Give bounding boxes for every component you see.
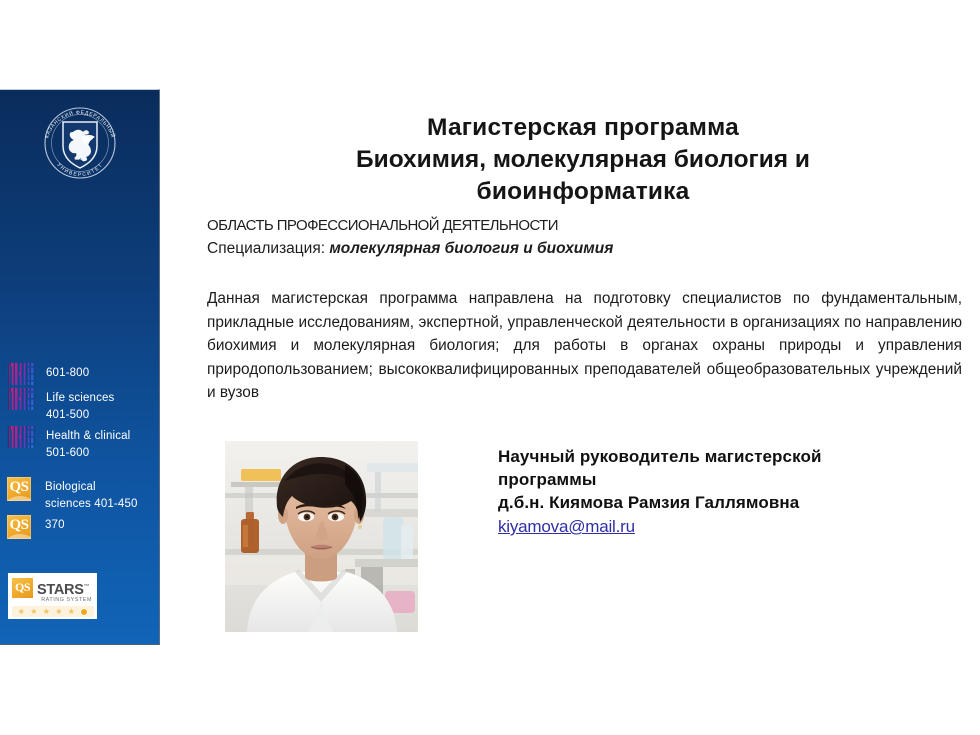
ranking-item-the-health-clinical: Health & clinical 501-600 (0, 426, 160, 461)
scientific-supervisor-portrait (225, 441, 418, 632)
star-icon: ★ (18, 608, 25, 616)
ranking-item-text: 601-800 (46, 363, 89, 382)
qs-stars-rating-badge: QS STARS™ RATING SYSTEM ★ ★ ★ ★ ★ (8, 573, 97, 619)
ranking-item-text: 370 (45, 515, 65, 534)
slide-canvas: КАЗАНСКИЙ ФЕДЕРАЛЬНЫЙ УНИВЕРСИТЕТ 1804 (0, 0, 980, 735)
sidebar-panel: КАЗАНСКИЙ ФЕДЕРАЛЬНЫЙ УНИВЕРСИТЕТ 1804 (0, 89, 160, 645)
ranking-item-text: Health & clinical 501-600 (46, 426, 130, 461)
ranking-item-qs-biological-sciences: QS Biological sciences 401-450 (0, 477, 160, 512)
supervisor-info: Научный руководитель магистерской програ… (498, 445, 948, 538)
program-description: Данная магистерская программа направлена… (207, 287, 962, 405)
star-icon: ★ (55, 608, 62, 616)
supervisor-email-link[interactable]: kiyamova@mail.ru (498, 516, 635, 538)
qs-stars-star-row: ★ ★ ★ ★ ★ (12, 606, 94, 617)
supervisor-name: д.б.н. Киямова Рамзия Галлямовна (498, 491, 948, 514)
supervisor-role-line-1: Научный руководитель магистерской (498, 445, 948, 468)
times-higher-education-logo-icon (7, 388, 35, 410)
ranking-item-the-life-sciences: Life sciences 401-500 (0, 388, 160, 423)
qs-logo-icon: QS (7, 477, 31, 501)
page-title-line-3: биоинформатика (203, 176, 963, 208)
supervisor-role-line-2: программы (498, 468, 948, 491)
content-area: Магистерская программа Биохимия, молекул… (203, 0, 965, 735)
page-title: Магистерская программа Биохимия, молекул… (203, 112, 963, 208)
qs-logo-icon: QS (7, 515, 31, 539)
star-icon: ★ (30, 608, 37, 616)
star-rating-dot-icon (80, 608, 88, 616)
star-icon: ★ (43, 608, 50, 616)
star-icon: ★ (68, 608, 75, 616)
times-higher-education-logo-icon (7, 426, 35, 448)
qs-logo-icon: QS (12, 578, 33, 598)
rankings-spacer (0, 464, 160, 477)
svg-text:1804: 1804 (75, 156, 86, 161)
qs-stars-title: STARS™ (37, 580, 89, 597)
rankings-list: 601-800 (0, 363, 160, 542)
trademark-symbol: ™ (84, 584, 90, 590)
page-title-line-2: Биохимия, молекулярная биология и (203, 144, 963, 176)
ranking-item-the-overall: 601-800 (0, 363, 160, 385)
specialization-row: Специализация: молекулярная биология и б… (207, 238, 613, 259)
specialization-label: Специализация: (207, 240, 325, 257)
page-title-line-1: Магистерская программа (203, 112, 963, 144)
ranking-item-text: Biological sciences 401-450 (45, 477, 138, 512)
professional-field-label: ОБЛАСТЬ ПРОФЕССИОНАЛЬНОЙ ДЕЯТЕЛЬНОСТИ (207, 216, 558, 236)
ranking-item-qs-overall: QS 370 (0, 515, 160, 539)
ranking-item-text: Life sciences 401-500 (46, 388, 114, 423)
times-higher-education-logo-icon (7, 363, 35, 385)
kazan-federal-university-emblem-icon: КАЗАНСКИЙ ФЕДЕРАЛЬНЫЙ УНИВЕРСИТЕТ 1804 (37, 100, 123, 186)
specialization-value: молекулярная биология и биохимия (329, 240, 613, 257)
